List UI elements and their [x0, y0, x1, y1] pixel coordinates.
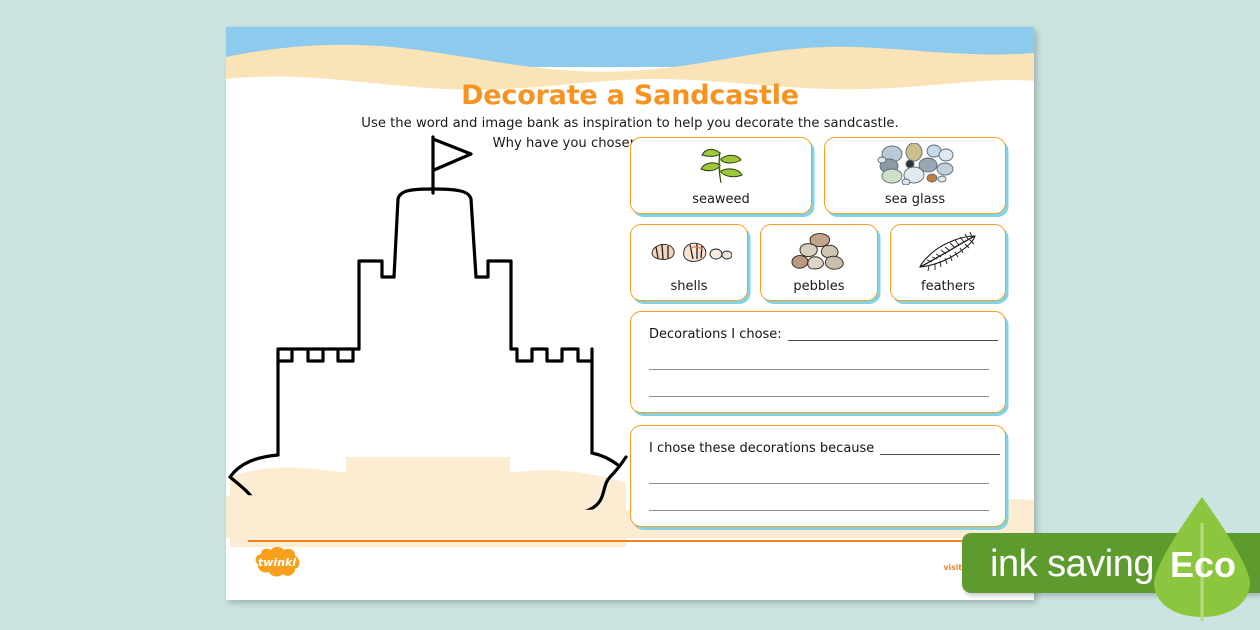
decorations-chosen-prompt-row: Decorations I chose: [649, 327, 989, 342]
reason-prompt-row: I chose these decorations because [649, 441, 989, 456]
bank-card-sea-glass[interactable]: sea glass [824, 137, 1006, 214]
reason-prompt-label: I chose these decorations because [649, 441, 874, 456]
twinkl-logo[interactable]: twinkl [251, 546, 303, 578]
eco-badge-primary-text: ink saving [990, 544, 1154, 584]
bank-card-label: seaweed [631, 192, 811, 207]
reason-box[interactable]: I chose these decorations because [630, 425, 1006, 527]
write-line-inline[interactable] [788, 340, 998, 341]
write-line[interactable] [649, 396, 989, 397]
shells-icon [631, 230, 747, 272]
bank-card-label: shells [631, 279, 747, 294]
write-line[interactable] [649, 483, 989, 484]
sea-glass-icon [825, 143, 1005, 185]
worksheet-page: Decorate a Sandcastle Use the word and i… [226, 27, 1034, 600]
base-mound-right-path [592, 453, 618, 465]
seaweed-icon [631, 143, 811, 185]
write-line[interactable] [649, 369, 989, 370]
eco-badge-secondary-text: Eco [1170, 545, 1236, 585]
left-turret-path [359, 261, 394, 349]
feather-icon [891, 230, 1005, 272]
central-tower-path [394, 189, 476, 277]
decorations-chosen-box[interactable]: Decorations I chose: [630, 311, 1006, 413]
write-line-inline[interactable] [880, 454, 1000, 455]
footer-divider [248, 540, 1012, 542]
flag-path [433, 139, 471, 170]
pebbles-icon [761, 230, 877, 272]
write-line[interactable] [649, 510, 989, 511]
bank-card-label: sea glass [825, 192, 1005, 207]
page-title: Decorate a Sandcastle [226, 80, 1034, 111]
decorations-chosen-prompt-label: Decorations I chose: [649, 327, 782, 342]
twinkl-logo-text: twinkl [258, 556, 296, 569]
bank-card-pebbles[interactable]: pebbles [760, 224, 878, 301]
eco-saving-badge: ink saving Eco [962, 481, 1260, 609]
left-battlement-path [278, 349, 359, 361]
bank-card-label: pebbles [761, 279, 877, 294]
bank-card-shells[interactable]: shells [630, 224, 748, 301]
bank-card-seaweed[interactable]: seaweed [630, 137, 812, 214]
bank-card-feathers[interactable]: feathers [890, 224, 1006, 301]
right-battlement-path [511, 349, 592, 361]
right-turret-path [476, 261, 511, 349]
bank-card-label: feathers [891, 279, 1005, 294]
